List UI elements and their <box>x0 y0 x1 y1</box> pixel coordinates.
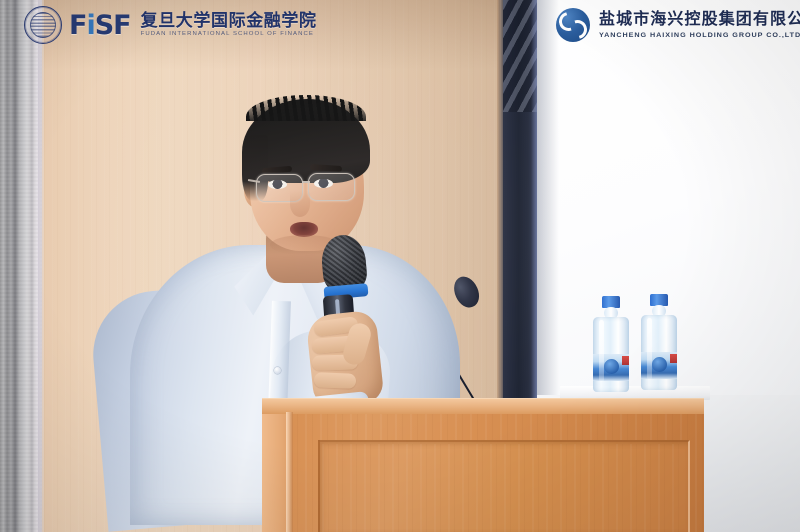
bottle-label-red-mark <box>670 354 677 363</box>
lectern-inset-woodgrain <box>322 444 686 532</box>
fudan-isf-english-name: FUDAN INTERNATIONAL SCHOOL OF FINANCE <box>141 32 317 38</box>
presenter-finger <box>314 372 356 388</box>
lectern-corner-edge <box>286 412 293 532</box>
fisf-wordmark: FiSF <box>69 12 131 39</box>
haixing-nameblock: 盐城市海兴控股集团有限公司 YANCHENG HAIXING HOLDING G… <box>599 11 800 39</box>
photo-scene: FiSF 复旦大学国际金融学院 FUDAN INTERNATIONAL SCHO… <box>0 0 800 532</box>
bottle-label-badge <box>652 357 667 372</box>
fisf-wordmark-accent: i <box>86 10 94 41</box>
glasses-bridge <box>302 181 310 183</box>
fudan-isf-chinese-name: 复旦大学国际金融学院 <box>141 13 317 31</box>
bottle-label-badge <box>604 359 619 374</box>
presenter-nose <box>290 191 310 217</box>
bottle-label-red-mark <box>622 356 629 365</box>
water-bottle-left <box>591 296 631 392</box>
presenter <box>150 95 480 425</box>
pillar-texture <box>0 0 42 532</box>
shirt-button <box>274 367 281 374</box>
presenter-hair-spikes <box>246 95 366 121</box>
water-bottle-right <box>639 294 679 390</box>
lectern-top-surface <box>262 398 704 414</box>
fudan-isf-nameblock: 复旦大学国际金融学院 FUDAN INTERNATIONAL SCHOOL OF… <box>141 13 317 38</box>
haixing-english-name: YANCHENG HAIXING HOLDING GROUP CO.,LTD. <box>599 30 800 39</box>
fudan-university-seal-icon <box>24 6 62 44</box>
yancheng-haixing-logo: 盐城市海兴控股集团有限公司 YANCHENG HAIXING HOLDING G… <box>556 8 800 42</box>
bottle-highlight <box>599 320 604 382</box>
haixing-swirl-icon <box>556 8 590 42</box>
haixing-chinese-name: 盐城市海兴控股集团有限公司 <box>599 11 800 28</box>
glasses-lens-right <box>308 173 355 201</box>
pillar-edge-highlight <box>38 0 44 532</box>
bottle-highlight <box>647 318 652 380</box>
fudan-isf-logo: FiSF 复旦大学国际金融学院 FUDAN INTERNATIONAL SCHO… <box>24 6 317 44</box>
